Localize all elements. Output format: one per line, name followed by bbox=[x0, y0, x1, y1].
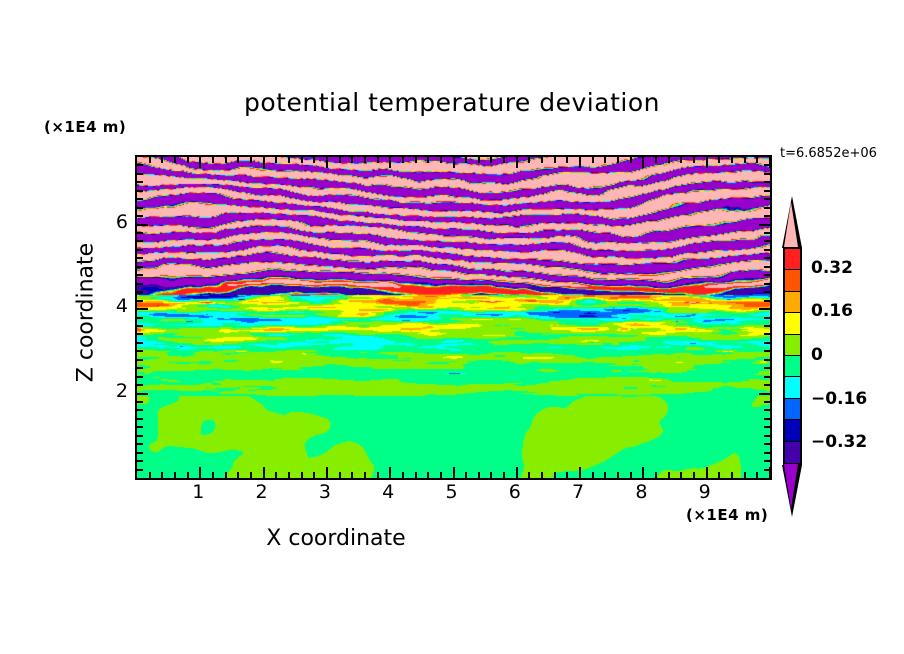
y-axis-tick bbox=[137, 257, 143, 259]
x-axis-tick bbox=[579, 467, 581, 478]
x-axis-tick bbox=[389, 467, 391, 478]
x-tick-label: 5 bbox=[432, 481, 472, 503]
x-axis-tick bbox=[478, 472, 480, 478]
x-tick-label: 7 bbox=[558, 481, 598, 503]
colorbar-label: 0.16 bbox=[811, 301, 853, 321]
x-axis-tick bbox=[313, 472, 315, 478]
time-annotation: t=6.6852e+06 bbox=[780, 146, 877, 161]
x-axis-tick bbox=[617, 157, 619, 163]
y-axis-tick bbox=[137, 164, 143, 166]
x-axis-tick bbox=[440, 157, 442, 163]
y-axis-tick bbox=[137, 469, 143, 471]
colorbar-band bbox=[785, 335, 800, 356]
x-axis-tick bbox=[592, 157, 594, 163]
x-axis-tick bbox=[630, 472, 632, 478]
x-axis-tick bbox=[225, 472, 227, 478]
x-axis-tick bbox=[668, 472, 670, 478]
y-axis-tick bbox=[137, 300, 143, 302]
x-axis-unit-label: (×1E4 m) bbox=[686, 506, 768, 524]
y-tick-label: 2 bbox=[88, 380, 128, 402]
y-axis-tick bbox=[137, 266, 143, 268]
y-axis-tick bbox=[137, 452, 143, 454]
y-axis-tick bbox=[137, 443, 143, 445]
y-axis-tick bbox=[764, 274, 770, 276]
y-axis-tick bbox=[137, 460, 143, 462]
colorbar-label: 0.32 bbox=[811, 258, 853, 278]
y-axis-tick bbox=[764, 325, 770, 327]
x-axis-tick bbox=[744, 157, 746, 163]
x-axis-tick bbox=[718, 157, 720, 163]
x-axis-tick bbox=[288, 472, 290, 478]
x-axis-tick bbox=[592, 472, 594, 478]
y-axis-tick bbox=[137, 181, 143, 183]
y-axis-tick bbox=[764, 232, 770, 234]
x-axis-tick bbox=[402, 157, 404, 163]
y-axis-tick bbox=[137, 249, 143, 251]
x-axis-tick bbox=[541, 157, 543, 163]
x-axis-tick bbox=[313, 157, 315, 163]
x-axis-tick bbox=[161, 157, 163, 163]
x-axis-tick bbox=[630, 157, 632, 163]
x-axis-tick bbox=[680, 472, 682, 478]
x-axis-tick bbox=[706, 467, 708, 478]
x-axis-tick bbox=[212, 157, 214, 163]
y-axis-tick bbox=[764, 359, 770, 361]
y-axis-tick bbox=[137, 308, 148, 310]
x-axis-tick bbox=[731, 157, 733, 163]
x-axis-tick bbox=[351, 157, 353, 163]
x-axis-tick bbox=[503, 157, 505, 163]
y-axis-unit-label: (×1E4 m) bbox=[44, 118, 126, 136]
y-axis-tick bbox=[137, 207, 143, 209]
x-axis-tick bbox=[528, 472, 530, 478]
y-axis-tick bbox=[137, 359, 143, 361]
x-axis-tick bbox=[541, 472, 543, 478]
x-tick-label: 8 bbox=[621, 481, 661, 503]
x-axis-tick bbox=[680, 157, 682, 163]
y-axis-tick bbox=[137, 215, 143, 217]
x-axis-tick bbox=[427, 157, 429, 163]
x-axis-tick bbox=[377, 472, 379, 478]
y-axis-tick bbox=[764, 435, 770, 437]
x-axis-tick bbox=[490, 472, 492, 478]
x-axis-tick bbox=[554, 157, 556, 163]
x-axis-tick bbox=[706, 157, 708, 168]
x-axis-tick bbox=[554, 472, 556, 478]
y-tick-label: 6 bbox=[88, 211, 128, 233]
x-axis-tick bbox=[655, 157, 657, 163]
y-axis-tick bbox=[137, 401, 143, 403]
x-axis-tick bbox=[604, 472, 606, 478]
x-tick-label: 3 bbox=[305, 481, 345, 503]
y-axis-tick bbox=[137, 325, 143, 327]
x-axis-tick bbox=[212, 472, 214, 478]
y-axis-tick bbox=[764, 376, 770, 378]
contour-field-canvas bbox=[137, 157, 770, 478]
x-axis-tick bbox=[566, 157, 568, 163]
y-axis-tick bbox=[764, 443, 770, 445]
colorbar-label: −0.32 bbox=[811, 432, 867, 452]
x-axis-tick bbox=[693, 157, 695, 163]
y-axis-tick bbox=[137, 291, 143, 293]
y-tick-label: 4 bbox=[88, 295, 128, 317]
y-axis-tick bbox=[764, 257, 770, 259]
y-axis-tick bbox=[137, 232, 143, 234]
x-axis-tick bbox=[389, 157, 391, 168]
y-axis-tick bbox=[764, 342, 770, 344]
y-axis-tick bbox=[764, 190, 770, 192]
x-axis-tick bbox=[528, 157, 530, 163]
y-axis-tick bbox=[764, 215, 770, 217]
y-axis-tick bbox=[759, 393, 770, 395]
x-axis-tick bbox=[351, 472, 353, 478]
y-axis-tick bbox=[764, 164, 770, 166]
x-axis-tick bbox=[478, 157, 480, 163]
x-axis-tick bbox=[275, 472, 277, 478]
y-axis-tick bbox=[764, 300, 770, 302]
x-axis-tick bbox=[693, 472, 695, 478]
x-axis-tick bbox=[415, 472, 417, 478]
x-axis-tick bbox=[263, 157, 265, 168]
y-axis-tick bbox=[137, 409, 143, 411]
y-axis-tick bbox=[764, 198, 770, 200]
x-axis-tick bbox=[326, 157, 328, 168]
colorbar-band bbox=[785, 442, 800, 463]
y-axis-tick bbox=[764, 460, 770, 462]
y-axis-tick bbox=[137, 342, 143, 344]
y-axis-tick bbox=[137, 350, 143, 352]
x-axis-tick bbox=[250, 157, 252, 163]
y-axis-tick bbox=[137, 376, 143, 378]
y-axis-tick bbox=[764, 240, 770, 242]
x-axis-tick bbox=[199, 157, 201, 168]
x-axis-tick bbox=[718, 472, 720, 478]
y-axis-tick bbox=[764, 291, 770, 293]
x-axis-tick bbox=[516, 467, 518, 478]
colorbar-band bbox=[785, 270, 800, 291]
y-axis-tick bbox=[764, 426, 770, 428]
colorbar-band bbox=[785, 313, 800, 334]
y-axis-tick bbox=[764, 350, 770, 352]
y-axis-tick bbox=[764, 181, 770, 183]
x-axis-tick bbox=[149, 157, 151, 163]
y-axis-tick bbox=[137, 418, 143, 420]
x-axis-tick bbox=[440, 472, 442, 478]
y-axis-tick bbox=[764, 207, 770, 209]
y-axis-tick bbox=[764, 333, 770, 335]
x-axis-tick bbox=[566, 472, 568, 478]
x-tick-label: 1 bbox=[178, 481, 218, 503]
y-axis-tick bbox=[137, 393, 148, 395]
y-axis-tick bbox=[764, 283, 770, 285]
x-axis-tick bbox=[199, 467, 201, 478]
y-axis-tick bbox=[137, 283, 143, 285]
y-axis-tick bbox=[764, 367, 770, 369]
y-axis-tick bbox=[137, 190, 143, 192]
x-axis-tick bbox=[465, 157, 467, 163]
x-axis-tick bbox=[453, 157, 455, 168]
x-axis-tick bbox=[617, 472, 619, 478]
y-axis-tick bbox=[764, 452, 770, 454]
x-axis-title: X coordinate bbox=[0, 526, 672, 551]
page-title: potential temperature deviation bbox=[0, 88, 904, 117]
x-axis-tick bbox=[503, 472, 505, 478]
y-axis-tick bbox=[137, 317, 143, 319]
x-axis-tick bbox=[364, 472, 366, 478]
x-axis-tick bbox=[756, 472, 758, 478]
colorbar-label: −0.16 bbox=[811, 389, 867, 409]
x-axis-tick bbox=[288, 157, 290, 163]
x-tick-label: 2 bbox=[242, 481, 282, 503]
colorbar-band bbox=[785, 377, 800, 398]
x-axis-tick bbox=[744, 472, 746, 478]
x-axis-tick bbox=[339, 472, 341, 478]
y-axis-tick bbox=[759, 224, 770, 226]
colorbar-band bbox=[785, 292, 800, 313]
x-axis-tick bbox=[453, 467, 455, 478]
colorbar-label: 0 bbox=[811, 345, 823, 365]
x-axis-tick bbox=[465, 472, 467, 478]
y-axis-tick bbox=[137, 198, 143, 200]
colorbar: 0.320.160−0.16−0.32 bbox=[781, 196, 807, 516]
y-axis-tick bbox=[137, 426, 143, 428]
colorbar-extend-low-fill bbox=[784, 464, 798, 509]
x-axis-tick bbox=[339, 157, 341, 163]
x-axis-tick bbox=[263, 467, 265, 478]
y-axis-tick bbox=[764, 418, 770, 420]
x-axis-tick bbox=[516, 157, 518, 168]
x-axis-tick bbox=[174, 472, 176, 478]
x-axis-tick bbox=[326, 467, 328, 478]
y-axis-tick bbox=[764, 401, 770, 403]
y-axis-tick bbox=[137, 367, 143, 369]
x-axis-tick bbox=[642, 157, 644, 168]
y-axis-tick bbox=[137, 240, 143, 242]
x-axis-tick bbox=[225, 157, 227, 163]
x-axis-tick bbox=[187, 157, 189, 163]
x-axis-tick bbox=[237, 157, 239, 163]
x-axis-tick bbox=[161, 472, 163, 478]
x-axis-tick bbox=[642, 467, 644, 478]
x-axis-tick bbox=[731, 472, 733, 478]
x-axis-tick bbox=[275, 157, 277, 163]
y-axis-tick bbox=[764, 266, 770, 268]
x-axis-tick bbox=[237, 472, 239, 478]
colorbar-extend-high-fill bbox=[784, 202, 798, 247]
y-axis-tick bbox=[137, 274, 143, 276]
x-axis-tick bbox=[756, 157, 758, 163]
y-axis-tick bbox=[764, 384, 770, 386]
x-axis-tick bbox=[364, 157, 366, 163]
colorbar-band bbox=[785, 249, 800, 270]
colorbar-band bbox=[785, 399, 800, 420]
y-axis-tick bbox=[759, 308, 770, 310]
y-axis-tick bbox=[137, 224, 148, 226]
x-axis-tick bbox=[301, 472, 303, 478]
x-axis-tick bbox=[301, 157, 303, 163]
x-axis-tick bbox=[149, 472, 151, 478]
x-tick-label: 6 bbox=[495, 481, 535, 503]
x-axis-tick bbox=[668, 157, 670, 163]
x-tick-label: 9 bbox=[685, 481, 725, 503]
y-axis-tick bbox=[764, 249, 770, 251]
x-axis-tick bbox=[490, 157, 492, 163]
colorbar-bands bbox=[783, 247, 802, 465]
colorbar-band bbox=[785, 420, 800, 441]
x-axis-tick bbox=[187, 472, 189, 478]
y-axis-tick bbox=[137, 435, 143, 437]
x-axis-tick bbox=[377, 157, 379, 163]
x-axis-tick bbox=[604, 157, 606, 163]
x-axis-tick bbox=[174, 157, 176, 163]
contour-plot-area bbox=[135, 155, 772, 480]
x-axis-tick bbox=[415, 157, 417, 163]
x-axis-tick bbox=[402, 472, 404, 478]
colorbar-band bbox=[785, 356, 800, 377]
x-axis-tick bbox=[250, 472, 252, 478]
x-axis-tick bbox=[427, 472, 429, 478]
x-axis-tick bbox=[655, 472, 657, 478]
x-tick-label: 4 bbox=[368, 481, 408, 503]
x-axis-tick bbox=[579, 157, 581, 168]
y-axis-tick bbox=[764, 317, 770, 319]
y-axis-tick bbox=[137, 333, 143, 335]
y-axis-tick bbox=[764, 469, 770, 471]
y-axis-tick bbox=[764, 409, 770, 411]
y-axis-tick bbox=[764, 173, 770, 175]
y-axis-tick bbox=[137, 173, 143, 175]
y-axis-tick bbox=[137, 384, 143, 386]
